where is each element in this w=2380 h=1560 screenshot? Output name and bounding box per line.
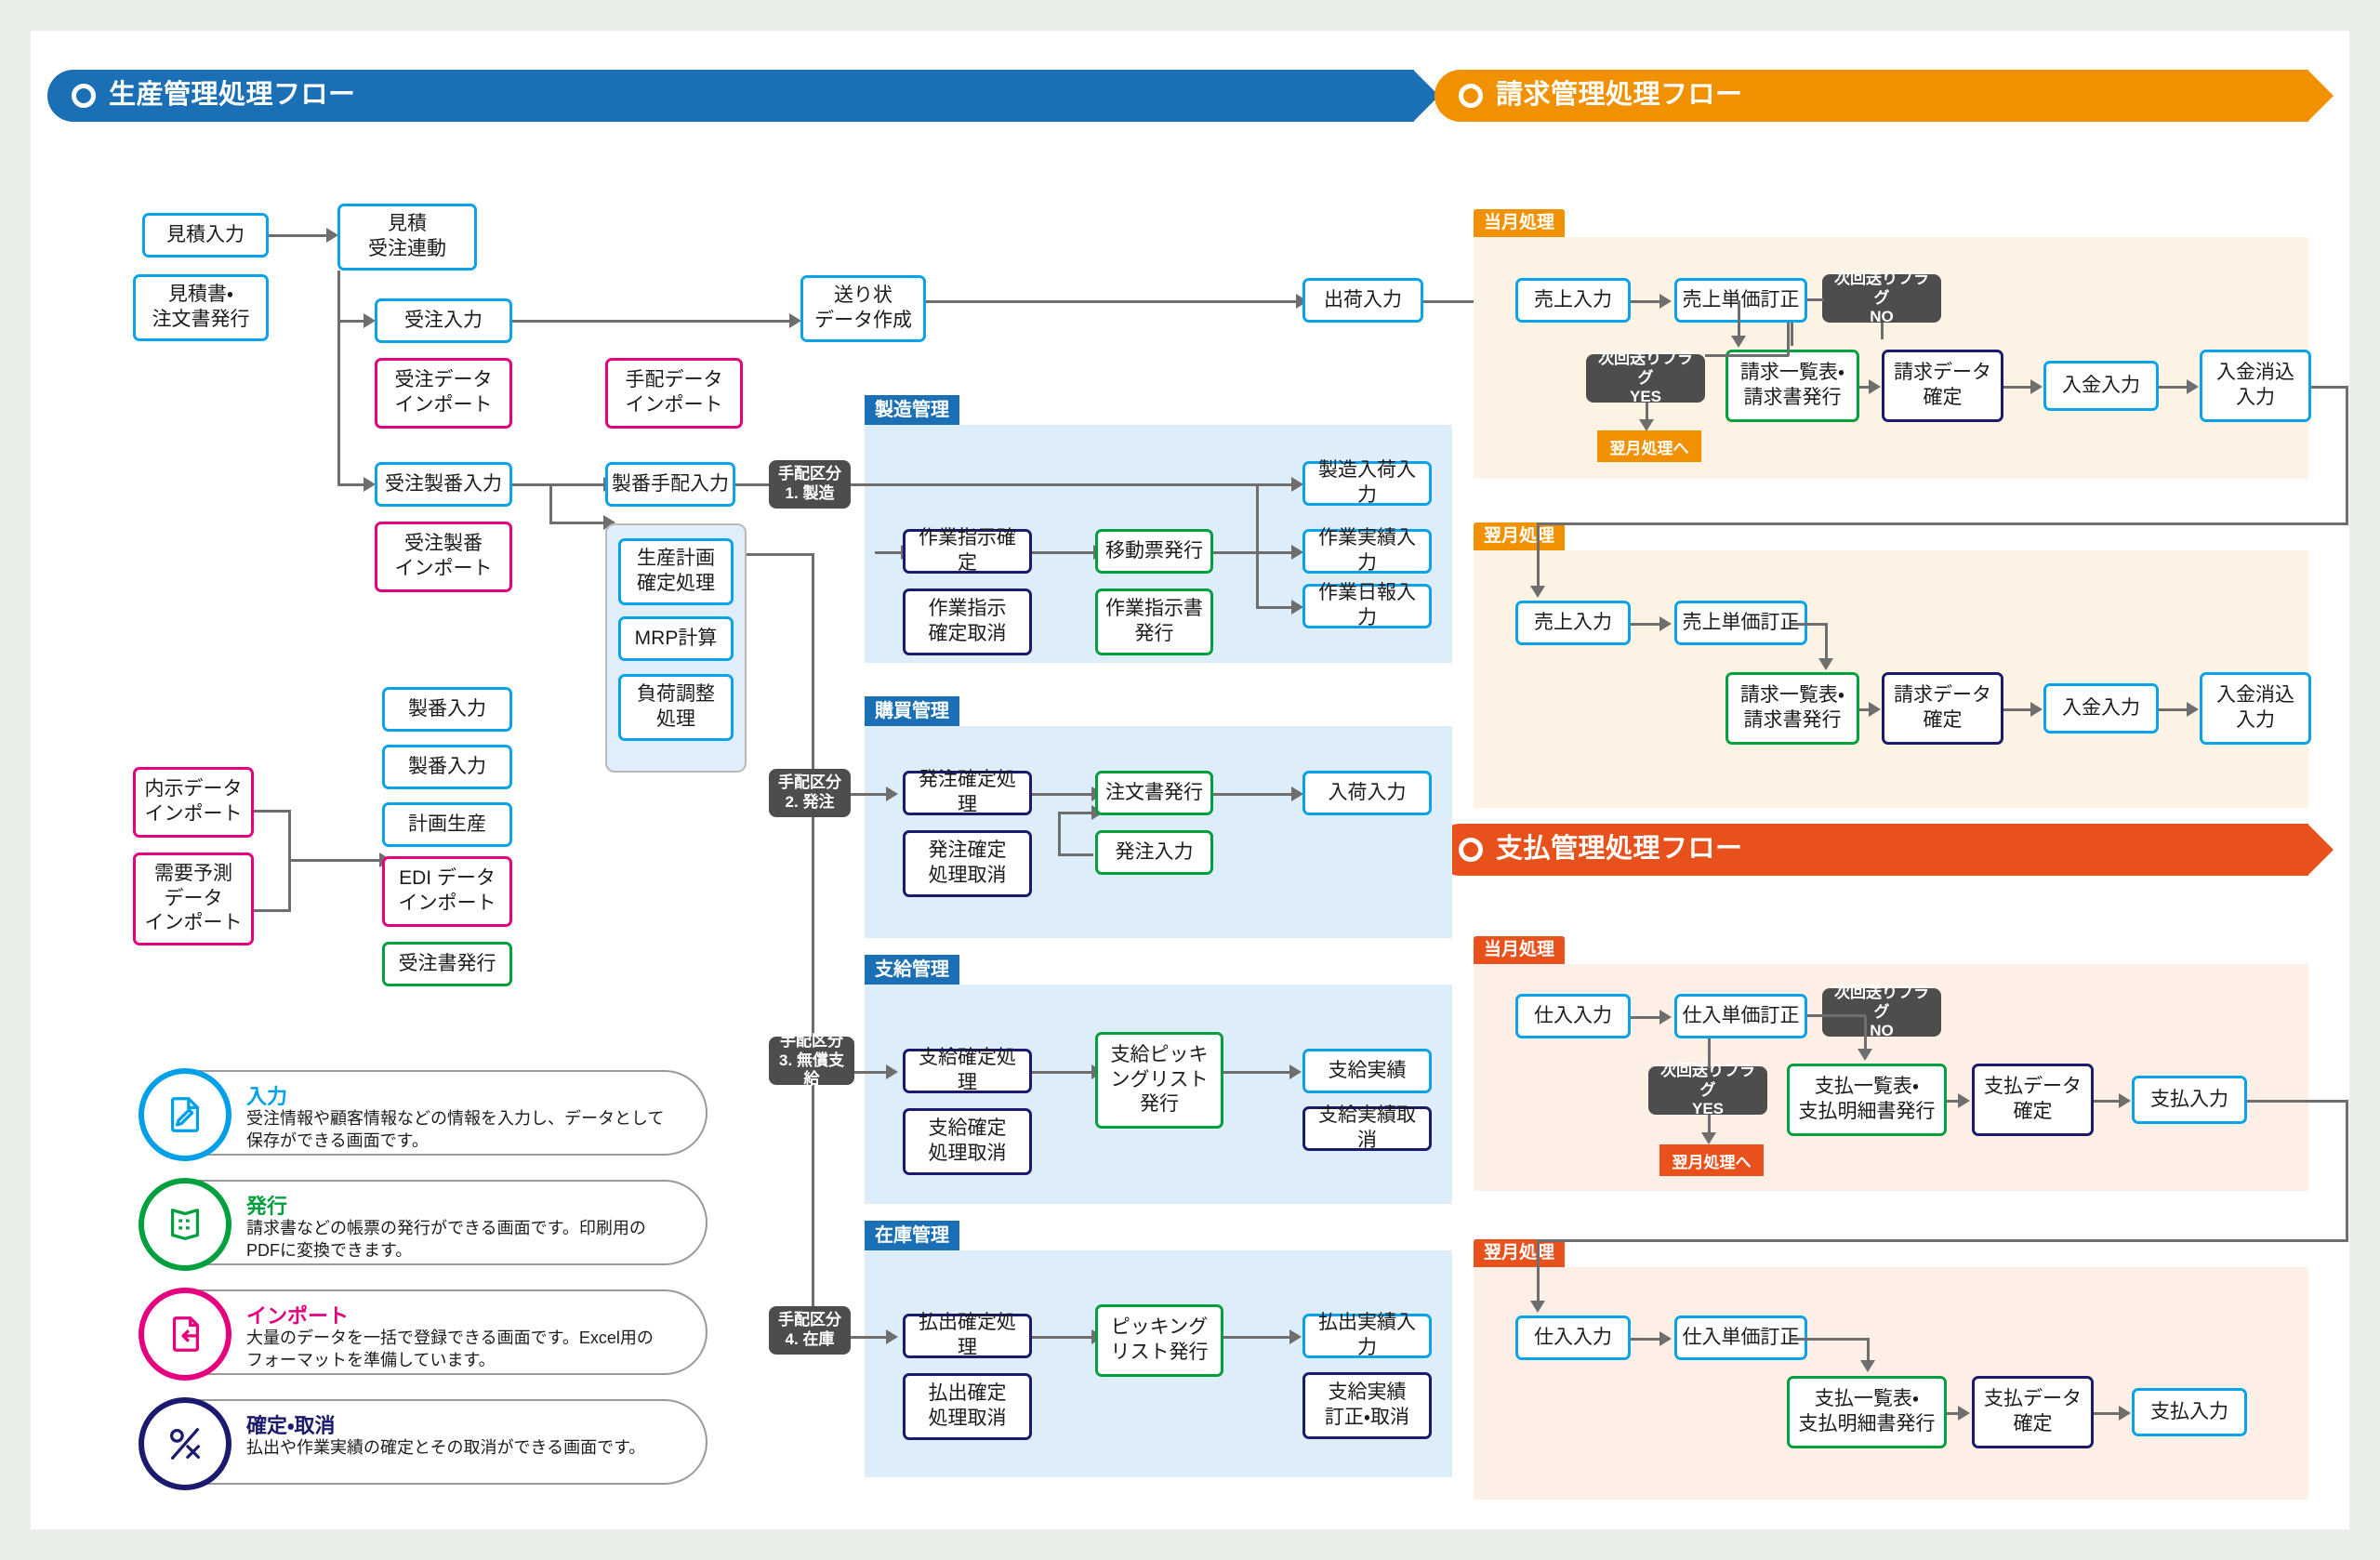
legend-desc: 大量のデータを一括で登録できる画面です。Excel用の フォーマットを準備してい…	[246, 1327, 685, 1372]
arrow-head	[886, 787, 898, 801]
node-work-order-confirm[interactable]: 作業指示確定	[903, 529, 1032, 574]
connector	[1537, 522, 1540, 589]
legend-title: インポート	[246, 1300, 349, 1329]
node-daily-report-input[interactable]: 作業日報入力	[1302, 584, 1432, 628]
connector	[1256, 483, 1259, 609]
group-tab-manufacturing: 製造管理	[865, 395, 959, 425]
node-picking-list-issue[interactable]: ピッキング リスト発行	[1095, 1304, 1223, 1377]
node-billing-next-list-issue[interactable]: 請求一覧表・ 請求書発行	[1725, 672, 1859, 745]
panel-tab-billing-current: 当月処理	[1474, 209, 1565, 237]
section-title-payment: 支払管理処理フロー	[1496, 823, 1743, 875]
payment-flag-yes: 次回送りフラグ YES	[1648, 1066, 1767, 1115]
panel-tab-payment-next: 翌月処理	[1474, 1239, 1565, 1267]
connector	[1032, 1336, 1093, 1339]
section-banner-payment: 支払管理処理フロー	[1435, 824, 2308, 876]
node-po-confirm[interactable]: 発注確定処理	[903, 771, 1032, 815]
node-billing-next-sales-input[interactable]: 売上入力	[1515, 601, 1631, 645]
connector	[1631, 1016, 1661, 1019]
billing-flag-no: 次回送りフラグ NO	[1822, 274, 1941, 323]
connector	[851, 483, 1293, 486]
connector	[250, 810, 291, 813]
node-mfg-receipt-input[interactable]: 製造入荷入力	[1302, 461, 1432, 506]
connector	[1708, 1038, 1711, 1068]
connector	[1032, 1071, 1093, 1074]
node-quote-input[interactable]: 見積入力	[142, 213, 269, 258]
arrow-head	[1530, 586, 1545, 598]
connector	[2003, 708, 2032, 711]
connector	[1032, 551, 1095, 554]
connector	[1791, 623, 1828, 626]
connector	[337, 271, 340, 486]
arrow-head	[886, 1329, 898, 1344]
node-payment-next-data-fix[interactable]: 支払データ 確定	[1972, 1376, 2094, 1448]
node-billing-next-deposit-input[interactable]: 入金入力	[2043, 683, 2159, 734]
connector	[1213, 793, 1291, 796]
arrow-head	[886, 1064, 898, 1079]
node-billing-deposit-input[interactable]: 入金入力	[2043, 361, 2159, 411]
connector	[1223, 1071, 1291, 1074]
node-billing-list-issue[interactable]: 請求一覧表・ 請求書発行	[1725, 350, 1859, 422]
connector	[2247, 1100, 2346, 1103]
connector	[745, 553, 814, 556]
arrange-div-2: 手配区分 2. 発注	[769, 769, 851, 817]
node-quote-order-link[interactable]: 見積 受注連動	[337, 204, 477, 271]
node-pn-input-2[interactable]: 製番入力	[382, 745, 512, 789]
connector	[2094, 1412, 2120, 1415]
connector	[1631, 1338, 1661, 1341]
connector	[1807, 298, 1824, 301]
node-quote-order-doc[interactable]: 見積書・ 注文書発行	[133, 274, 269, 341]
arrow-head	[1659, 1010, 1672, 1025]
arrow-head	[1818, 658, 1833, 670]
connector	[1223, 1336, 1291, 1339]
node-pn-input-1[interactable]: 製番入力	[382, 687, 512, 732]
node-supply-confirm-cancel[interactable]: 支給確定 処理取消	[903, 1108, 1032, 1175]
connector	[2346, 1100, 2348, 1241]
node-payment-purchase-price-fix[interactable]: 仕入単価訂正	[1674, 994, 1807, 1038]
panel-tab-payment-current: 当月処理	[1474, 936, 1565, 964]
connector	[812, 553, 814, 1332]
node-payment-next-purchase-price-fix[interactable]: 仕入単価訂正	[1674, 1315, 1807, 1360]
connector	[1631, 300, 1661, 303]
group-tab-supply: 支給管理	[865, 955, 959, 985]
connector	[2094, 1100, 2120, 1103]
connector	[926, 300, 1298, 303]
node-load-adjust[interactable]: 負荷調整 処理	[618, 674, 734, 741]
group-tab-purchasing: 購買管理	[865, 696, 959, 726]
connector	[851, 793, 888, 796]
legend-item-issue: 発行 請求書などの帳票の発行ができる画面です。印刷用の PDFに変換できます。	[140, 1180, 707, 1265]
group-tab-inventory: 在庫管理	[865, 1221, 959, 1250]
node-issue-result-input[interactable]: 払出実績入力	[1302, 1314, 1432, 1358]
node-po-input[interactable]: 発注入力	[1095, 830, 1213, 875]
section-title-billing: 請求管理処理フロー	[1496, 69, 1743, 121]
diagram-page: 生産管理処理フロー 請求管理処理フロー 支払管理処理フロー 製造管理 購買管理 …	[0, 0, 2380, 1560]
node-payment-purchase-input[interactable]: 仕入入力	[1515, 994, 1631, 1038]
node-arrange-data-import[interactable]: 手配データ インポート	[605, 358, 743, 429]
connector	[1807, 1014, 1824, 1017]
arrow-head	[1858, 1049, 1872, 1061]
connector	[2159, 386, 2188, 389]
arrow-head	[1639, 419, 1654, 431]
section-banner-billing: 請求管理処理フロー	[1435, 70, 2308, 122]
report-issue-icon	[139, 1178, 231, 1271]
node-move-slip-issue[interactable]: 移動票発行	[1095, 529, 1213, 574]
node-order-data-import[interactable]: 受注データ インポート	[375, 358, 512, 429]
node-work-order-issue[interactable]: 作業指示書 発行	[1095, 588, 1213, 655]
connector	[512, 483, 605, 486]
node-billing-deposit-clear[interactable]: 入金消込 入力	[2200, 350, 2311, 422]
arrow-head	[1731, 336, 1746, 348]
connector	[1032, 793, 1093, 796]
node-order-input[interactable]: 受注入力	[375, 298, 512, 343]
legend-title: 入力	[246, 1080, 287, 1110]
node-payment-list-issue[interactable]: 支払一覧表・ 支払明細書発行	[1787, 1064, 1947, 1136]
node-order-sheet-issue[interactable]: 受注書発行	[382, 942, 512, 986]
arrange-div-1: 手配区分 1. 製造	[769, 460, 851, 509]
connector	[337, 320, 365, 323]
connector	[1213, 551, 1291, 554]
connector	[1058, 812, 1061, 856]
banner-bullet-icon	[1459, 838, 1483, 862]
node-payment-input[interactable]: 支払入力	[2132, 1076, 2247, 1124]
connector	[1791, 1338, 1870, 1341]
connector	[1537, 522, 2348, 525]
connector	[337, 483, 365, 486]
node-forecast-import[interactable]: 内示データ インポート	[133, 767, 254, 838]
connector	[549, 483, 552, 523]
node-plan-confirm[interactable]: 生産計画 確定処理	[618, 538, 734, 605]
connector	[512, 320, 791, 323]
connector	[1537, 1239, 1540, 1304]
billing-next-month-chip: 翌月処理へ	[1597, 430, 1701, 462]
arrow-head	[2187, 379, 2199, 394]
arrow-head	[2030, 379, 2043, 394]
node-supply-result[interactable]: 支給実績	[1302, 1049, 1432, 1093]
node-supply-result-cancel[interactable]: 支給実績取消	[1302, 1106, 1432, 1151]
node-issue-confirm-cancel[interactable]: 払出確定 処理取消	[903, 1373, 1032, 1440]
connector	[2346, 386, 2348, 525]
node-demand-import[interactable]: 需要予測 データ インポート	[133, 853, 254, 945]
arrow-head	[1659, 294, 1672, 309]
connector	[549, 522, 605, 524]
node-po-sheet-issue[interactable]: 注文書発行	[1095, 771, 1213, 815]
connector	[1705, 354, 1789, 357]
arrow-head	[2030, 702, 2043, 717]
legend-item-input: 入力 受注情報や顧客情報などの情報を入力し、データとして 保存ができる画面です。	[140, 1070, 707, 1156]
arrow-head	[2119, 1093, 2131, 1108]
confirm-cancel-icon	[139, 1397, 231, 1490]
connector	[851, 1336, 888, 1339]
arrow-head	[1530, 1301, 1545, 1313]
node-payment-next-purchase-input[interactable]: 仕入入力	[1515, 1315, 1631, 1360]
connector	[735, 483, 769, 486]
legend-title: 発行	[246, 1190, 287, 1220]
node-receipt-input[interactable]: 入荷入力	[1302, 771, 1432, 815]
connector	[1791, 323, 1793, 346]
arrow-head	[2119, 1406, 2131, 1421]
node-billing-next-data-fix[interactable]: 請求データ 確定	[1882, 672, 2003, 745]
arrow-head	[1659, 616, 1672, 631]
node-billing-next-deposit-clear[interactable]: 入金消込 入力	[2200, 672, 2311, 745]
connector	[1787, 323, 1790, 356]
legend-title: 確定・取消	[246, 1409, 335, 1439]
payment-next-month-chip: 翌月処理へ	[1659, 1144, 1764, 1176]
billing-flag-yes: 次回送りフラグ YES	[1586, 354, 1705, 403]
node-payment-next-list-issue[interactable]: 支払一覧表・ 支払明細書発行	[1787, 1376, 1947, 1448]
node-billing-sales-input[interactable]: 売上入力	[1515, 278, 1631, 323]
arrow-head	[1701, 1132, 1716, 1144]
panel-tab-billing-next: 翌月処理	[1474, 522, 1565, 550]
connector	[1058, 853, 1093, 856]
node-shipping-input[interactable]: 出荷入力	[1302, 278, 1423, 323]
connector	[269, 234, 328, 237]
connector	[1058, 812, 1093, 814]
node-payment-data-fix[interactable]: 支払データ 確定	[1972, 1064, 2094, 1136]
connector	[1881, 323, 1884, 339]
arrow-head	[1659, 1331, 1672, 1346]
connector	[1537, 1239, 2348, 1242]
node-billing-sales-price-fix[interactable]: 売上単価訂正	[1674, 278, 1807, 323]
banner-bullet-icon	[1459, 84, 1483, 108]
node-supply-picking-issue[interactable]: 支給ピッキ ングリスト 発行	[1095, 1032, 1223, 1129]
arrow-head	[1958, 1406, 1970, 1421]
node-payment-next-input[interactable]: 支払入力	[2132, 1388, 2247, 1436]
document-pencil-icon	[139, 1068, 231, 1161]
node-mrp[interactable]: MRP計算	[618, 616, 734, 661]
node-order-pn-import[interactable]: 受注製番 インポート	[375, 522, 512, 592]
node-work-order-cancel[interactable]: 作業指示 確定取消	[903, 588, 1032, 655]
connector	[250, 909, 291, 912]
connector	[1256, 606, 1291, 609]
legend-desc: 請求書などの帳票の発行ができる画面です。印刷用の PDFに変換できます。	[246, 1217, 685, 1263]
node-work-result-input[interactable]: 作業実績入力	[1302, 529, 1432, 574]
node-supply-result-fix[interactable]: 支給実績 訂正・取消	[1302, 1372, 1432, 1439]
node-pn-arrange-input[interactable]: 製番手配入力	[605, 462, 735, 507]
connector	[875, 551, 903, 554]
connector	[2159, 708, 2188, 711]
node-billing-next-sales-price-fix[interactable]: 売上単価訂正	[1674, 601, 1807, 645]
arrange-div-4: 手配区分 4. 在庫	[769, 1306, 851, 1355]
connector	[1631, 623, 1661, 626]
arrow-head	[1860, 1360, 1875, 1372]
connector	[1738, 300, 1740, 339]
connector	[1824, 1014, 1866, 1017]
node-edi-import[interactable]: EDI データ インポート	[382, 856, 512, 927]
section-banner-production: 生産管理処理フロー	[47, 70, 1414, 122]
arrow-head	[2187, 702, 2199, 717]
connector	[854, 1071, 888, 1074]
section-title-production: 生産管理処理フロー	[109, 69, 356, 121]
connector	[1864, 1016, 1867, 1051]
arrow-head	[1958, 1093, 1970, 1108]
connector	[2003, 386, 2032, 389]
payment-flag-no: 次回送りフラグ NO	[1822, 988, 1941, 1037]
node-planned-production[interactable]: 計画生産	[382, 802, 512, 847]
import-arrow-icon	[139, 1288, 231, 1381]
node-issue-confirm[interactable]: 払出確定処理	[903, 1314, 1032, 1358]
diagram-canvas: 生産管理処理フロー 請求管理処理フロー 支払管理処理フロー 製造管理 購買管理 …	[31, 31, 2349, 1529]
node-supply-confirm[interactable]: 支給確定処理	[903, 1049, 1032, 1093]
arrange-div-3: 手配区分 3. 無償支給	[769, 1037, 854, 1085]
arrow-head	[1869, 379, 1881, 394]
arrow-head	[1289, 1329, 1302, 1344]
legend-item-import: インポート 大量のデータを一括で登録できる画面です。Excel用の フォーマット…	[140, 1289, 707, 1375]
node-po-confirm-cancel[interactable]: 発注確定 処理取消	[903, 830, 1032, 897]
legend-item-confirm-cancel: 確定・取消 払出や作業実績の確定とその取消ができる画面です。	[140, 1399, 707, 1485]
node-invoice-data-create[interactable]: 送り状 データ作成	[800, 275, 926, 342]
connector	[1825, 623, 1828, 662]
arrow-head	[1869, 702, 1881, 717]
legend-desc: 払出や作業実績の確定とその取消ができる画面です。	[246, 1436, 685, 1459]
connector	[288, 859, 381, 862]
banner-bullet-icon	[72, 84, 96, 108]
connector	[2311, 386, 2348, 389]
node-order-pn-input[interactable]: 受注製番入力	[375, 462, 512, 507]
node-billing-data-fix[interactable]: 請求データ 確定	[1882, 350, 2003, 422]
legend-desc: 受注情報や顧客情報などの情報を入力し、データとして 保存ができる画面です。	[246, 1107, 685, 1153]
arrow-head	[1289, 1064, 1302, 1079]
